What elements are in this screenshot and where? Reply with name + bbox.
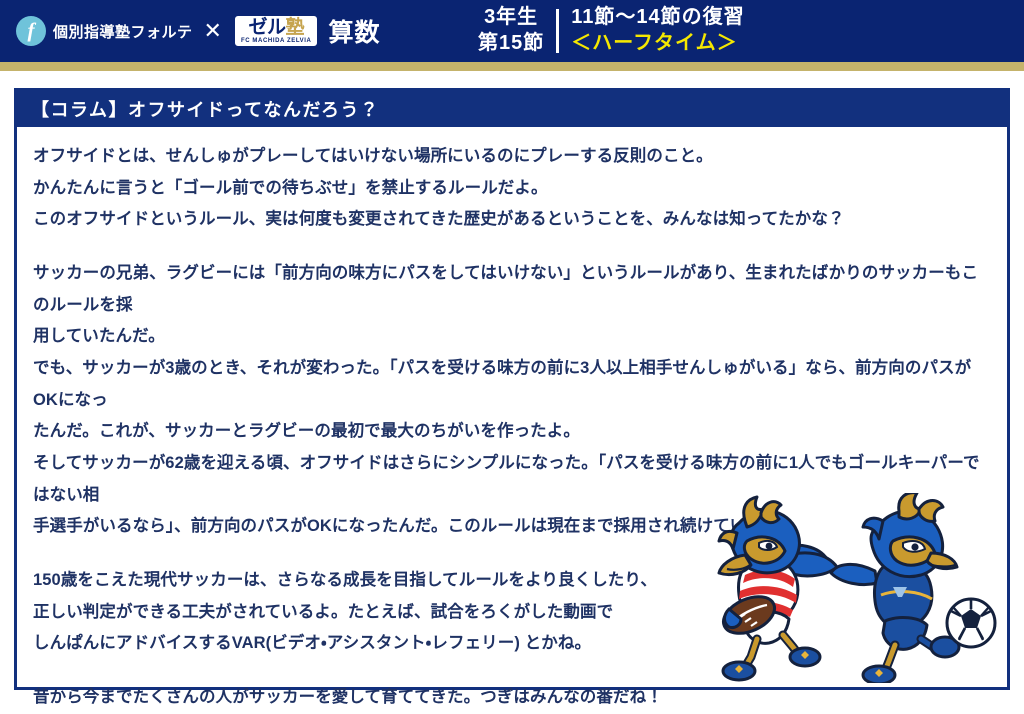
text-line: かんたんに言うと「ゴール前での待ちぶせ」を禁止するルールだよ。 [33,179,548,197]
text-line: 正しい判定ができる工夫がされているよ。たとえば、試合をろくがした動画で [33,603,613,621]
zelvia-logo-subtitle: FC MACHIDA ZELVIA [241,38,312,45]
header-vertical-divider [556,9,559,53]
forte-f-mark: f [28,20,35,41]
forte-circle-logo: f [16,16,46,46]
lesson-title-block: 11節～14節の復習 ＜ハーフタイム＞ [571,5,744,56]
subject-label: 算数 [328,13,380,49]
header-brand-group: f 個別指導塾フォルテ ✕ ゼル塾 FC MACHIDA ZELVIA 算数 [0,13,381,49]
text-line: たんだ。これが、サッカーとラグビーの最初で最大のちがいを作ったよ。 [33,422,580,440]
text-line: 用していたんだ。 [33,327,165,345]
gold-divider-bar [0,62,1024,71]
paragraph: 150歳をこえた現代サッカーは、さらなる成長を目指してルールをより良くしたり、 … [33,565,673,660]
text-line: 昔から今までたくさんの人がサッカーを愛して育ててきた。つぎはみんなの番だね！ [33,688,663,706]
column-title-bar: 【コラム】オフサイドってなんだろう？ [17,91,1007,127]
paragraph: サッカーの兄弟、ラグビーには「前方向の味方にパスをしてはいけない」というルールが… [33,258,991,543]
zelvia-logo-wordmark: ゼル塾 [248,18,304,38]
zelvia-logo-zeru: ゼル [248,17,285,38]
zelvia-juku-logo: ゼル塾 FC MACHIDA ZELVIA [233,14,320,48]
cross-icon: ✕ [204,20,222,42]
grade-label: 3年生 [478,5,544,31]
lesson-title-main: 11節～14節の復習 [571,5,744,31]
text-line: しんぱんにアドバイスするVAR(ビデオ・アシスタント・レフェリー) とかね。 [33,634,591,652]
text-line: そしてサッカーが62歳を迎える頃、オフサイドはさらにシンプルになった。「パスを受… [33,454,980,504]
paragraph-spacer [33,236,991,258]
text-line: でも、サッカーが3歳のとき、それが変わった。「パスを受ける味方の前に3人以上相手… [33,359,971,409]
paragraph-spacer [33,543,991,565]
column-title: 【コラム】オフサイドってなんだろう？ [31,96,379,122]
column-body: オフサイドとは、せんしゅがプレーしてはいけない場所にいるのにプレーする反則のこと… [17,127,1007,687]
text-line: 150歳をこえた現代サッカーは、さらなる成長を目指してルールをより良くしたり、 [33,571,657,589]
header-lesson-group: 3年生 第15節 11節～14節の復習 ＜ハーフタイム＞ [478,0,745,62]
section-label: 第15節 [478,31,544,57]
lesson-title-sub: ＜ハーフタイム＞ [571,31,744,57]
paragraph: オフサイドとは、せんしゅがプレーしてはいけない場所にいるのにプレーする反則のこと… [33,141,991,236]
column-card: 【コラム】オフサイドってなんだろう？ オフサイドとは、せんしゅがプレーしてはいけ… [14,88,1010,690]
text-line: オフサイドとは、せんしゅがプレーしてはいけない場所にいるのにプレーする反則のこと… [33,147,713,165]
zelvia-logo-juku: 塾 [285,17,304,38]
text-line: サッカーの兄弟、ラグビーには「前方向の味方にパスをしてはいけない」というルールが… [33,264,978,314]
forte-brand-name: 個別指導塾フォルテ [53,21,193,42]
paragraph-spacer [33,660,991,682]
text-line: このオフサイドというルール、実は何度も変更されてきた歴史があるということを、みん… [33,210,845,228]
text-line: 手選手がいるなら」、前方向のパスがOKになったんだ。このルールは現在まで採用され… [33,517,796,535]
page-header: f 個別指導塾フォルテ ✕ ゼル塾 FC MACHIDA ZELVIA 算数 3… [0,0,1024,62]
grade-section-block: 3年生 第15節 [478,5,544,56]
